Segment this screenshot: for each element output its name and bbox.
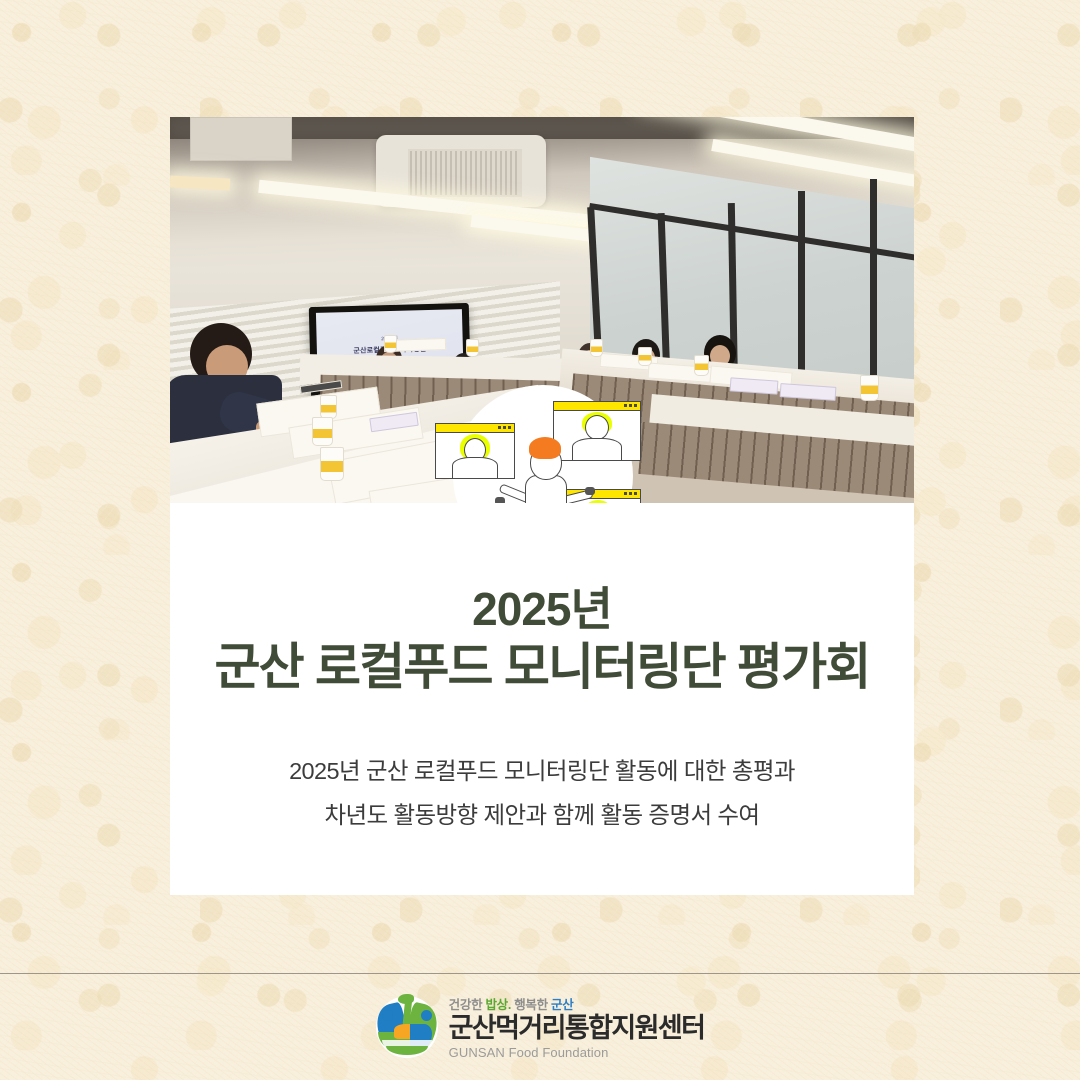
title-line-2: 군산 로컬푸드 모니터링단 평가회 [214,637,869,698]
page-subtitle: 2025년 군산 로컬푸드 모니터링단 활동에 대한 총평과 차년도 활동방향 … [289,750,795,837]
video-call-window [435,423,515,479]
coffee-cup [638,347,652,366]
coffee-cup [466,339,479,357]
online-meeting-illustration [435,385,647,503]
coffee-cup [312,417,333,446]
gunsan-food-foundation-logo-icon [376,996,438,1058]
logo-text-block: 건강한 밥상. 행복한 군산 군산먹거리통합지원센터 GUNSAN Food F… [449,994,705,1060]
page-title: 2025년 군산 로컬푸드 모니터링단 평가회 [214,581,869,698]
subtitle-line-2: 차년도 활동방향 제안과 함께 활동 증명서 수여 [289,794,795,837]
coffee-cup [860,375,879,401]
tagline-part-2: 밥상. [485,998,511,1012]
window-controls-icon [624,492,637,495]
text-block: 2025년 군산 로컬푸드 모니터링단 평가회 2025년 군산 로컬푸드 모니… [170,503,914,895]
ceiling-vent-small [190,117,292,161]
subtitle-line-1: 2025년 군산 로컬푸드 모니터링단 활동에 대한 총평과 [289,750,795,793]
coffee-cup [694,355,709,376]
video-participant-avatar [436,432,514,478]
tagline-part-4: 군산 [551,998,573,1012]
window-controls-icon [624,404,637,407]
coffee-cup [320,395,337,419]
content-card: 2025년 군산로컬푸드모니터링단 평가회 [170,117,914,895]
tagline-part-1: 건강한 [449,998,483,1012]
organization-name-en: GUNSAN Food Foundation [449,1045,705,1060]
window-controls-icon [498,426,511,429]
presenter-hair [529,437,561,459]
coffee-cup [384,335,397,353]
footer: 건강한 밥상. 행복한 군산 군산먹거리통합지원센터 GUNSAN Food F… [0,974,1080,1080]
coffee-cup [590,339,603,357]
title-line-1: 2025년 [214,581,869,637]
tagline-part-3: 행복한 [514,998,548,1012]
meeting-room-photo: 2025년 군산로컬푸드모니터링단 평가회 [170,117,914,503]
presenter-figure [513,437,575,503]
logo-tagline: 건강한 밥상. 행복한 군산 [449,994,705,1013]
organization-name-ko: 군산먹거리통합지원센터 [449,1014,705,1044]
coffee-cup [320,447,344,481]
presenter-hand-right [585,487,595,495]
ac-grill [408,149,522,197]
